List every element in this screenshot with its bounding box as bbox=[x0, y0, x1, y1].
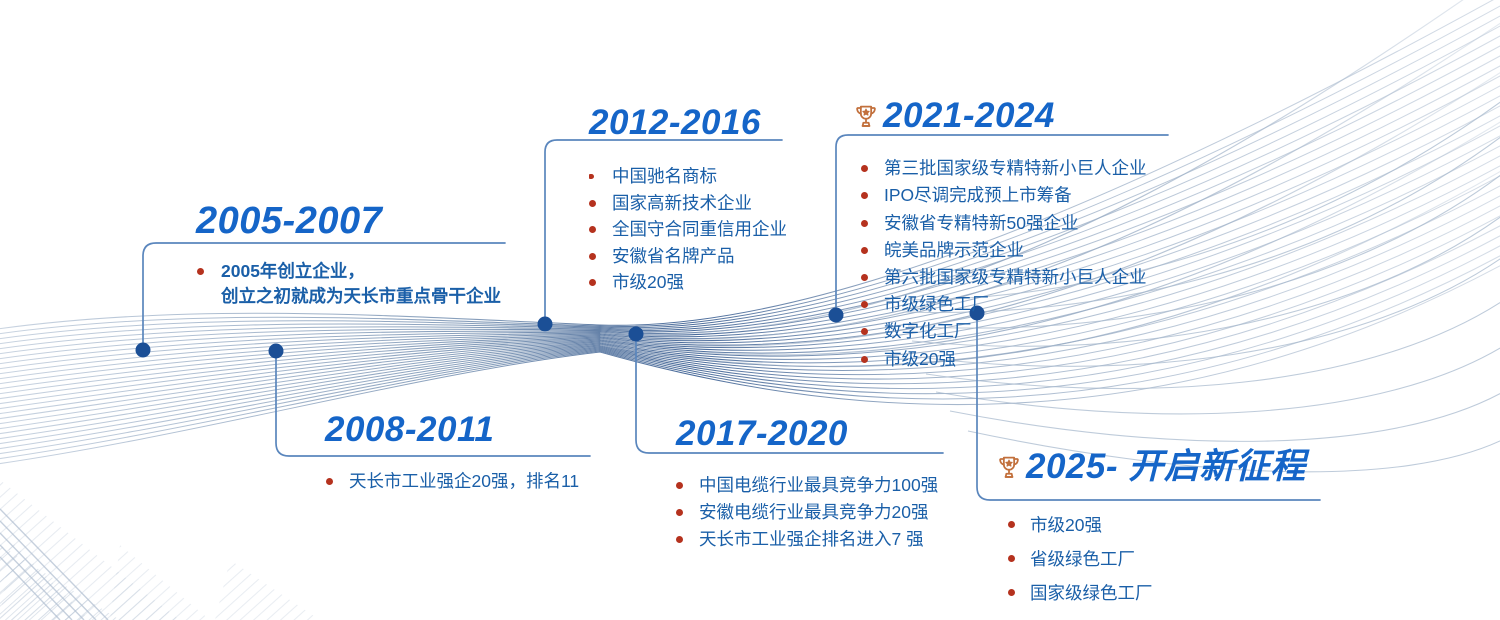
bullet-icon bbox=[326, 478, 333, 485]
milestone-year-heading: 2025- 开启新征程 bbox=[994, 447, 1306, 484]
milestone-year-heading: 2017-2020 bbox=[676, 414, 938, 451]
list-item: 天长市工业强企排名进入7 强 bbox=[676, 526, 938, 553]
trophy-icon bbox=[851, 101, 881, 131]
bullet-icon bbox=[861, 328, 868, 335]
node-2021 bbox=[829, 308, 844, 323]
bullet-icon bbox=[589, 226, 596, 233]
list-item: 安徽电缆行业最具竞争力20强 bbox=[676, 499, 938, 526]
bullet-icon bbox=[861, 247, 868, 254]
milestone-year-heading: 2008-2011 bbox=[325, 410, 579, 447]
milestone-item-list: 中国电缆行业最具竞争力100强 安徽电缆行业最具竞争力20强 天长市工业强企排名… bbox=[676, 472, 938, 553]
list-item: 第六批国家级专精特新小巨人企业 bbox=[861, 264, 1147, 291]
list-item: IPO尽调完成预上市筹备 bbox=[861, 182, 1147, 209]
node-2017 bbox=[629, 327, 644, 342]
bullet-icon bbox=[861, 301, 868, 308]
list-item: 市级绿色工厂 bbox=[861, 291, 1147, 318]
bullet-icon bbox=[676, 482, 683, 489]
list-item: 中国驰名商标 bbox=[589, 163, 787, 190]
trophy-icon bbox=[994, 452, 1024, 482]
milestone-2021-2024[interactable]: 2021-2024 第三批国家级专精特新小巨人企业 IPO尽调完成预上市筹备 安… bbox=[851, 96, 1147, 373]
milestone-year-heading: 2005-2007 bbox=[196, 200, 501, 240]
list-item: 创立之初就成为天长市重点骨干企业 bbox=[197, 284, 501, 309]
list-item: 全国守合同重信用企业 bbox=[589, 216, 787, 243]
milestone-item-list: 市级20强 省级绿色工厂 国家级绿色工厂 bbox=[1008, 508, 1306, 610]
list-item: 中国电缆行业最具竞争力100强 bbox=[676, 472, 938, 499]
bullet-icon bbox=[861, 165, 868, 172]
list-item: 省级绿色工厂 bbox=[1008, 542, 1306, 576]
milestone-item-list: 天长市工业强企20强，排名11 bbox=[326, 468, 579, 494]
milestone-item-list: 中国驰名商标 国家高新技术企业 全国守合同重信用企业 安徽省名牌产品 市级20强 bbox=[589, 163, 787, 296]
bullet-icon bbox=[861, 356, 868, 363]
milestone-item-list: 第三批国家级专精特新小巨人企业 IPO尽调完成预上市筹备 安徽省专精特新50强企… bbox=[861, 155, 1147, 373]
list-item: 国家级绿色工厂 bbox=[1008, 576, 1306, 610]
node-2008 bbox=[269, 344, 284, 359]
bullet-icon bbox=[1008, 589, 1015, 596]
bullet-icon bbox=[589, 200, 596, 207]
milestone-year-heading: 2021-2024 bbox=[851, 96, 1147, 133]
list-item: 市级20强 bbox=[1008, 508, 1306, 542]
list-item: 市级20强 bbox=[861, 346, 1147, 373]
bullet-icon bbox=[861, 274, 868, 281]
milestone-2012-2016[interactable]: 2012-2016 中国驰名商标 国家高新技术企业 全国守合同重信用企业 安徽省… bbox=[589, 103, 787, 296]
bullet-icon bbox=[1008, 555, 1015, 562]
milestone-2008-2011[interactable]: 2008-2011 天长市工业强企20强，排名11 bbox=[325, 410, 579, 494]
list-item: 市级20强 bbox=[589, 269, 787, 296]
bullet-icon bbox=[861, 220, 868, 227]
bullet-icon bbox=[1008, 521, 1015, 528]
bullet-icon bbox=[589, 279, 596, 286]
bullet-icon bbox=[589, 253, 596, 260]
milestone-2025[interactable]: 2025- 开启新征程 市级20强 省级绿色工厂 国家级绿色工厂 bbox=[994, 447, 1306, 610]
list-item: 天长市工业强企20强，排名11 bbox=[326, 468, 579, 494]
milestone-item-list: 2005年创立企业， 创立之初就成为天长市重点骨干企业 bbox=[197, 259, 501, 309]
list-item: 安徽省名牌产品 bbox=[589, 243, 787, 270]
list-item: 安徽省专精特新50强企业 bbox=[861, 210, 1147, 237]
timeline-infographic: 2005-2007 2005年创立企业， 创立之初就成为天长市重点骨干企业 20… bbox=[0, 0, 1500, 620]
bullet-icon bbox=[676, 536, 683, 543]
node-2005 bbox=[136, 343, 151, 358]
bullet-icon bbox=[197, 268, 204, 275]
list-item: 第三批国家级专精特新小巨人企业 bbox=[861, 155, 1147, 182]
list-item: 国家高新技术企业 bbox=[589, 190, 787, 217]
list-item: 2005年创立企业， bbox=[197, 259, 501, 284]
bullet-icon bbox=[676, 509, 683, 516]
bullet-icon bbox=[589, 174, 594, 179]
list-item: 数字化工厂 bbox=[861, 318, 1147, 345]
list-item: 皖美品牌示范企业 bbox=[861, 237, 1147, 264]
node-2012 bbox=[538, 317, 553, 332]
milestone-2005-2007[interactable]: 2005-2007 2005年创立企业， 创立之初就成为天长市重点骨干企业 bbox=[196, 200, 501, 309]
bullet-icon bbox=[861, 192, 868, 199]
milestone-year-heading: 2012-2016 bbox=[589, 103, 787, 140]
milestone-2017-2020[interactable]: 2017-2020 中国电缆行业最具竞争力100强 安徽电缆行业最具竞争力20强… bbox=[676, 414, 938, 553]
